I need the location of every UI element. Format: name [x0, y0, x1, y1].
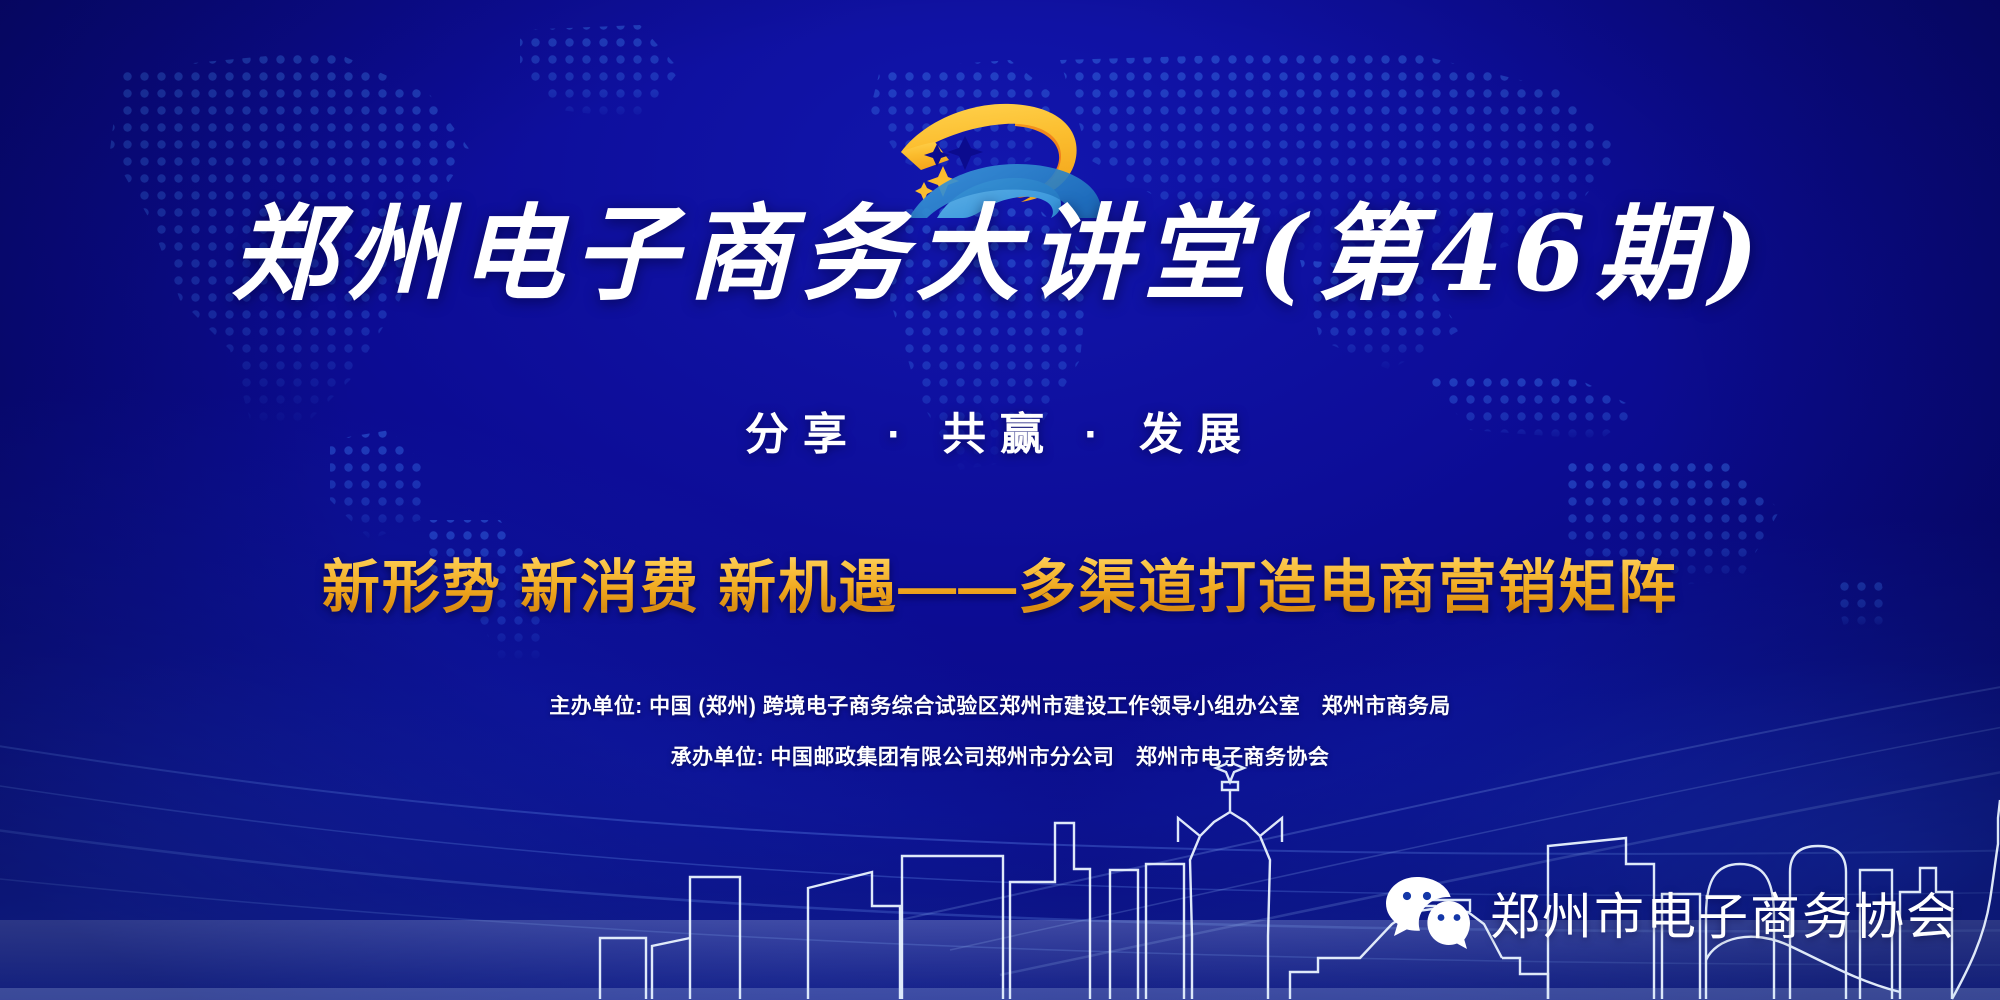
- organizer-host-line: 主办单位: 中国 (郑州) 跨境电子商务综合试验区郑州市建设工作领导小组办公室 …: [0, 690, 2000, 720]
- wechat-account-name: 郑州市电子商务协会: [1490, 877, 1958, 949]
- page-title: 郑州电子商务大讲堂(第46期): [0, 196, 2000, 312]
- page-subtitle: 分享 · 共赢 · 发展: [0, 398, 2000, 462]
- wechat-icon: [1384, 874, 1472, 952]
- wechat-account-badge[interactable]: 郑州市电子商务协会: [1384, 874, 1958, 952]
- event-poster: 郑州电子商务大讲堂(第46期) 分享 · 共赢 · 发展 新形势 新消费 新机遇…: [0, 0, 2000, 1000]
- organizer-coorganizer-line: 承办单位: 中国邮政集团有限公司郑州市分公司 郑州市电子商务协会: [0, 741, 2000, 771]
- event-topic-headline: 新形势 新消费 新机遇——多渠道打造电商营销矩阵: [0, 540, 2000, 624]
